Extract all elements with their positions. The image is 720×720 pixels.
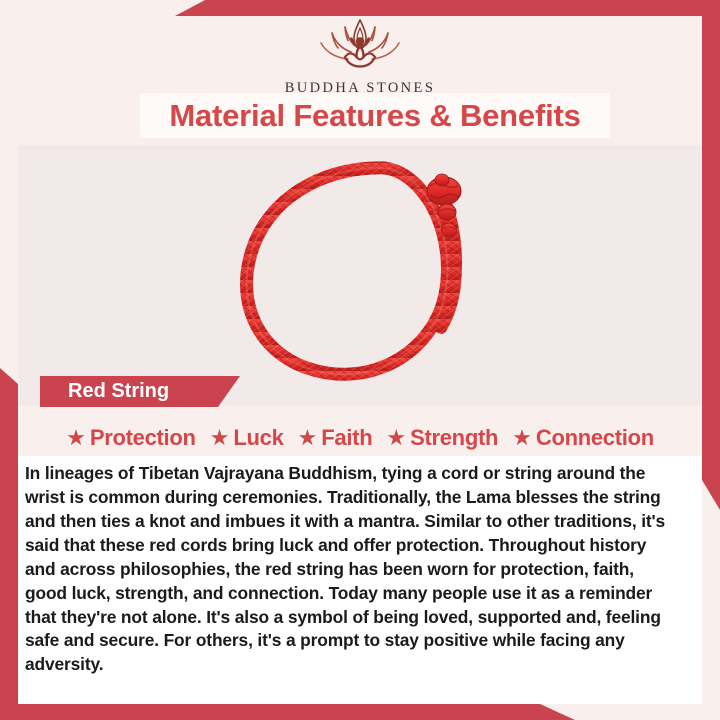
feature-item-connection: ★ Connection xyxy=(505,425,661,451)
star-icon: ★ xyxy=(66,427,86,449)
description-panel: In lineages of Tibetan Vajrayana Buddhis… xyxy=(18,456,702,704)
product-image-red-string-bracelet xyxy=(225,150,505,395)
brand-logo: BUDDHA STONES xyxy=(0,16,720,94)
title-banner: Material Features & Benefits xyxy=(140,93,610,138)
infographic-page: BUDDHA STONES Material Features & Benefi… xyxy=(0,0,720,720)
feature-list: ★ Protection ★ Luck ★ Faith ★ Strength ★… xyxy=(18,420,702,456)
star-icon: ★ xyxy=(210,427,230,449)
star-icon: ★ xyxy=(512,427,532,449)
feature-item-luck: ★ Luck xyxy=(203,425,291,451)
feature-label: Luck xyxy=(233,425,283,451)
star-icon: ★ xyxy=(386,427,406,449)
page-title: Material Features & Benefits xyxy=(169,98,580,134)
lotus-meditation-figure-icon xyxy=(301,16,419,79)
feature-label: Connection xyxy=(536,425,654,451)
feature-label: Strength xyxy=(410,425,498,451)
bracelet-loop xyxy=(247,168,448,374)
feature-label: Protection xyxy=(90,425,196,451)
feature-item-strength: ★ Strength xyxy=(379,425,505,451)
star-icon: ★ xyxy=(298,427,318,449)
description-text: In lineages of Tibetan Vajrayana Buddhis… xyxy=(25,462,680,677)
decor-band-left xyxy=(0,368,18,720)
decor-band-bottom xyxy=(0,704,720,720)
feature-label: Faith xyxy=(321,425,372,451)
feature-item-faith: ★ Faith xyxy=(291,425,380,451)
product-name-label: Red String xyxy=(40,380,169,403)
feature-item-protection: ★ Protection xyxy=(59,425,203,451)
product-name-ribbon: Red String xyxy=(40,376,240,407)
decor-band-top xyxy=(0,0,720,16)
